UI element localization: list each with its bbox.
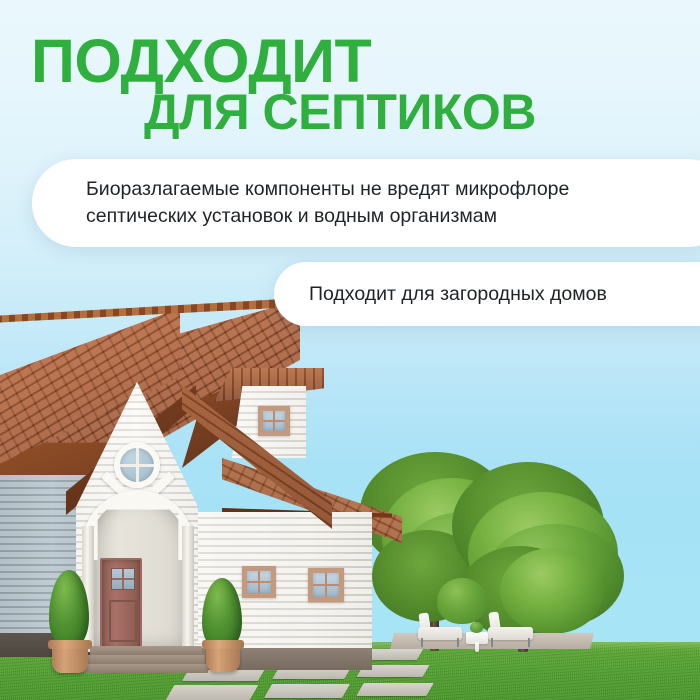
headline-line-2: ДЛЯ СЕПТИКОВ [144, 89, 536, 137]
plant-pot-left [52, 645, 88, 673]
door-panel [109, 600, 137, 642]
porch-column-right [182, 526, 194, 652]
callout-biodegradable-text: Биоразлагаемые компоненты не вредят микр… [86, 176, 569, 230]
callout-country-houses: Подходит для загородных домов [274, 262, 700, 326]
table-plant [470, 622, 483, 633]
callout-country-houses-text: Подходит для загородных домов [309, 281, 607, 308]
porch-steps [90, 646, 208, 672]
plant-pot-right [206, 645, 240, 672]
patio-table-leg [475, 642, 479, 652]
round-gable-window [114, 442, 160, 488]
headline-line-1: ПОДХОДИТ [31, 33, 371, 91]
garden-shrub [437, 578, 487, 624]
door-window [111, 568, 135, 590]
house-window-2 [308, 568, 344, 602]
callout-biodegradable: Биоразлагаемые компоненты не вредят микр… [32, 159, 700, 247]
dormer-window [258, 406, 290, 436]
front-door [100, 558, 142, 650]
house-window-1 [242, 566, 276, 598]
house-illustration [0, 290, 406, 670]
poster-canvas: ПОДХОДИТ ДЛЯ СЕПТИКОВ Биоразлагаемые ком… [0, 0, 700, 700]
